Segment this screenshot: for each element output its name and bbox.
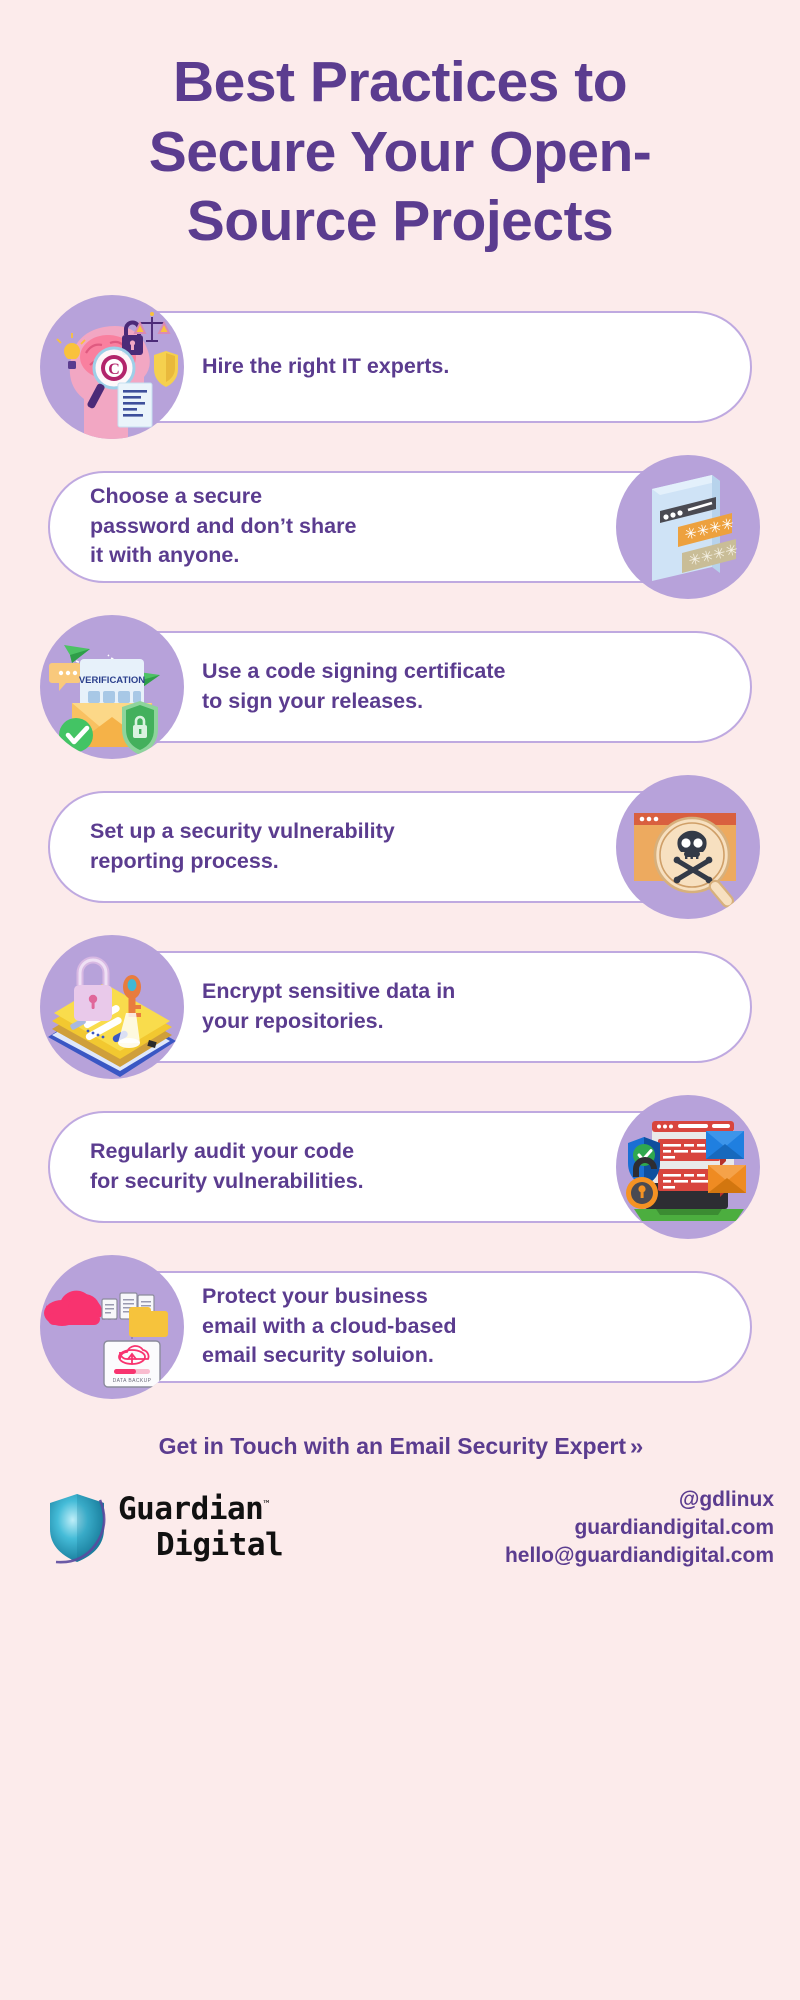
trademark-icon: ™ — [263, 1500, 269, 1511]
svg-text:C: C — [108, 361, 120, 378]
website-url[interactable]: guardiandigital.com — [505, 1514, 774, 1542]
list-item[interactable]: Encrypt sensitive data in your repositor… — [0, 935, 800, 1079]
list-item[interactable]: Choose a secure password and don’t share… — [0, 455, 800, 599]
cloud-backup-documents-icon: DATA BACKUP — [40, 1255, 184, 1399]
brand-logo[interactable]: Guardian™ Digital — [46, 1492, 283, 1564]
footer: Guardian™ Digital @gdlinux guardiandigit… — [0, 1486, 800, 1570]
list-item[interactable]: Hire the right IT experts. — [0, 295, 800, 439]
head-brain-copyright-icon: C — [40, 295, 184, 439]
padlock-key-folder-icon — [40, 935, 184, 1079]
password-login-window-icon: ✳✳✳✳ ✳✳✳✳ — [616, 455, 760, 599]
list-item[interactable]: Regularly audit your code for security v… — [0, 1095, 800, 1239]
contact-block: @gdlinux guardiandigital.com hello@guard… — [505, 1486, 774, 1570]
contact-email[interactable]: hello@guardiandigital.com — [505, 1542, 774, 1570]
svg-text:VERIFICATION: VERIFICATION — [79, 675, 145, 686]
svg-text:DATA BACKUP: DATA BACKUP — [113, 1378, 152, 1384]
practice-text-6: Regularly audit your code for security v… — [50, 1137, 514, 1196]
laptop-code-email-shield-icon — [616, 1095, 760, 1239]
page-title-line-1: Best Practices to — [173, 50, 627, 114]
brand-logo-text: Guardian™ Digital — [118, 1494, 283, 1561]
page-title-line-2: Secure Your Open- — [149, 120, 652, 184]
brand-name-line-1: Guardian — [118, 1491, 263, 1527]
malware-skull-magnifier-icon — [616, 775, 760, 919]
social-handle[interactable]: @gdlinux — [505, 1486, 774, 1514]
chevron-right-icon: ›› — [630, 1433, 641, 1459]
practice-text-4: Set up a security vulnerability reportin… — [50, 817, 545, 876]
page-title: Best Practices to Secure Your Open- Sour… — [40, 48, 760, 257]
list-item[interactable]: Use a code signing certificate to sign y… — [0, 615, 800, 759]
list-item[interactable]: Protect your business email with a cloud… — [0, 1255, 800, 1399]
cta-link[interactable]: Get in Touch with an Email Security Expe… — [0, 1433, 800, 1460]
cta-label: Get in Touch with an Email Security Expe… — [159, 1433, 626, 1459]
verification-envelope-shield-icon: VERIFICATION — [40, 615, 184, 759]
best-practices-list: Hire the right IT experts. — [0, 295, 800, 1399]
page-title-block: Best Practices to Secure Your Open- Sour… — [0, 0, 800, 257]
page-title-line-3: Source Projects — [187, 189, 614, 253]
shield-logo-icon — [46, 1492, 108, 1564]
practice-text-2: Choose a secure password and don’t share… — [50, 482, 506, 571]
list-item[interactable]: Set up a security vulnerability reportin… — [0, 775, 800, 919]
brand-name-line-2: Digital — [156, 1530, 283, 1561]
